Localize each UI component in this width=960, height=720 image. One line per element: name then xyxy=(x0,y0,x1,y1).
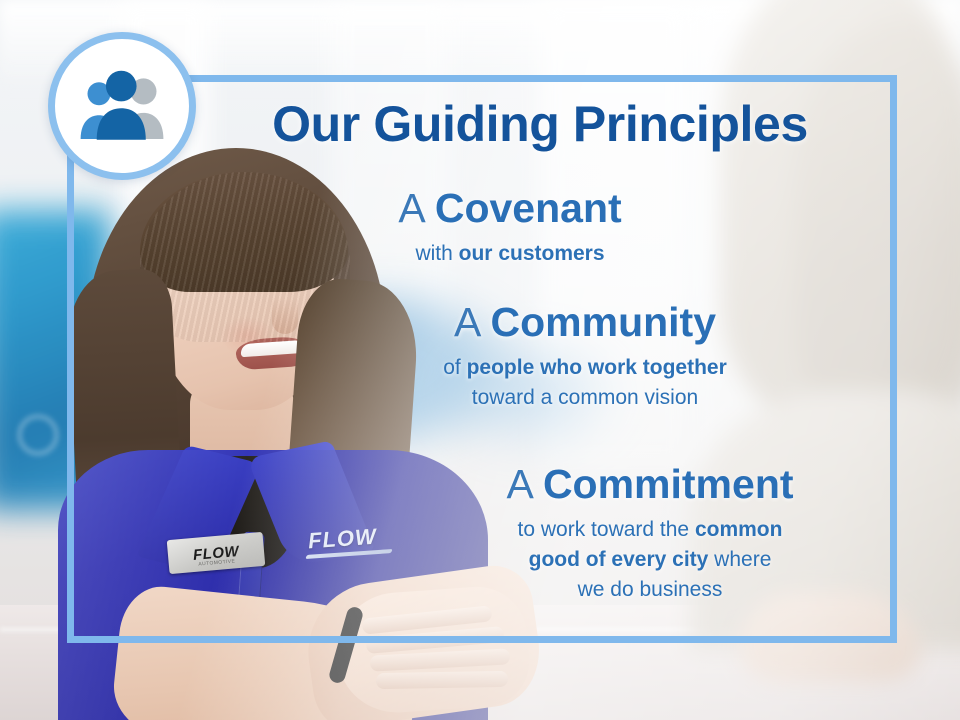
principle-description: with our customers xyxy=(300,239,720,269)
principle-description: of people who work togethertoward a comm… xyxy=(350,353,820,413)
principle-description-line: we do business xyxy=(420,575,880,605)
emphasis-text: good of every city xyxy=(529,548,709,571)
plain-text: with xyxy=(415,242,458,265)
principle-headline: A Commitment xyxy=(420,462,880,507)
people-badge xyxy=(48,32,196,180)
principle-headline: A Community xyxy=(350,300,820,345)
guiding-principles-graphic: FLOW AUTOMOTIVE FLOW xyxy=(0,0,960,720)
principle-word: Covenant xyxy=(435,185,622,231)
principle-description-line: good of every city where xyxy=(420,545,880,575)
plain-text: of xyxy=(443,356,466,379)
principle-description: to work toward the commongood of every c… xyxy=(420,515,880,604)
emphasis-text: people who work together xyxy=(467,356,727,379)
principle-headline: A Covenant xyxy=(300,186,720,231)
people-group-icon xyxy=(76,68,168,144)
plain-text: toward a common vision xyxy=(472,386,698,409)
plain-text: to work toward the xyxy=(518,518,695,541)
principle-description-line: with our customers xyxy=(300,239,720,269)
page-title: Our Guiding Principles xyxy=(215,98,865,151)
foreground-customer-hand xyxy=(740,592,920,682)
principle-covenant: A Covenant with our customers xyxy=(300,186,720,269)
emphasis-text: common xyxy=(695,518,783,541)
employee-finger xyxy=(376,671,508,689)
principle-community: A Community of people who work togethert… xyxy=(350,300,820,413)
principle-description-line: to work toward the common xyxy=(420,515,880,545)
principle-article: A xyxy=(398,185,423,231)
plain-text: we do business xyxy=(578,578,723,601)
principle-commitment: A Commitment to work toward the commongo… xyxy=(420,462,880,605)
principle-article: A xyxy=(454,299,479,345)
principle-article: A xyxy=(506,461,531,507)
principle-word: Commitment xyxy=(543,461,794,507)
emphasis-text: our customers xyxy=(459,242,605,265)
principle-description-line: toward a common vision xyxy=(350,383,820,413)
plain-text: where xyxy=(708,548,771,571)
principle-description-line: of people who work together xyxy=(350,353,820,383)
principle-word: Community xyxy=(491,299,717,345)
